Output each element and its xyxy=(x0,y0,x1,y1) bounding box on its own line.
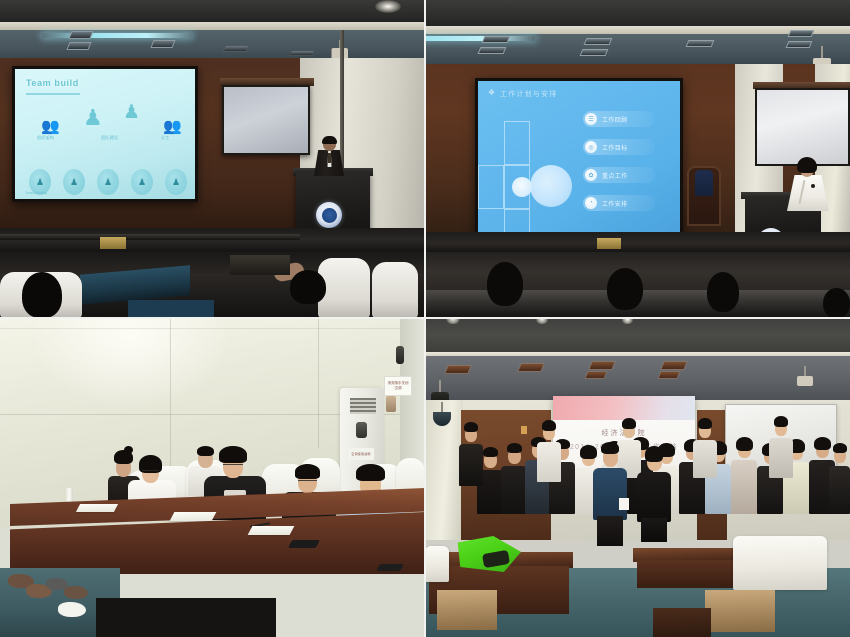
slide-leader-icon-2: ♟ xyxy=(123,101,140,124)
wall-sign: 请务随手关闭空调 xyxy=(384,376,412,396)
slide-bullet-icon: ◎ xyxy=(585,141,597,153)
student-glasses xyxy=(223,464,243,467)
student-glasses xyxy=(142,470,159,473)
slide-grid-cell xyxy=(504,121,530,165)
under-desk-shadow xyxy=(96,598,276,637)
paper-sheet xyxy=(76,504,118,512)
presenter-tie xyxy=(328,153,331,163)
wall-fixture xyxy=(386,396,396,412)
front-table-face xyxy=(637,560,747,588)
ceiling-vent xyxy=(788,30,815,37)
attendee-top xyxy=(693,440,717,478)
slide-decoration-circle-small xyxy=(512,177,532,197)
attendee-top xyxy=(637,472,671,522)
slide-bullet-icon: ◔ xyxy=(585,197,597,209)
wall-panel-seam xyxy=(318,318,319,448)
attendee-hair xyxy=(774,416,788,427)
slide-title: 工作计划与安排 xyxy=(500,89,557,99)
attendee xyxy=(693,418,717,476)
slide-bullet-row: ☰ 工作回顾 xyxy=(583,111,655,127)
ceiling-vent xyxy=(662,362,687,369)
slide-member-node: ♟ xyxy=(131,169,153,195)
slide-member-node: ♟ xyxy=(165,169,187,195)
student-hair xyxy=(295,464,320,479)
paper-sheet xyxy=(170,512,217,521)
secondary-projection-screen xyxy=(755,88,850,166)
attendee xyxy=(769,416,793,476)
covered-chair xyxy=(733,536,827,590)
university-crest-icon xyxy=(316,202,342,228)
collage-divider-horizontal xyxy=(0,317,850,319)
ceiling-vent xyxy=(590,362,615,369)
slide-label-center: 团队建设 xyxy=(101,135,118,141)
slide-bullet-icon: ✿ xyxy=(585,169,597,181)
slide-bullet-row: ✿ 重点工作 xyxy=(583,167,655,183)
attendee-front-center xyxy=(593,442,627,546)
presiding-chair-back xyxy=(695,170,713,196)
name-badge xyxy=(811,184,815,188)
student-hair-bun xyxy=(124,446,133,454)
attendee xyxy=(829,442,850,512)
secondary-projection-screen xyxy=(222,85,310,155)
panel-top-left: Team build ♟ ♟ 👥 👥 组织架构 团队建设 分工 ♟ ♟ ♟ ♟ … xyxy=(0,0,425,318)
stage-platform xyxy=(425,232,850,254)
attendee-top xyxy=(459,444,483,486)
presenter-polo-shirt xyxy=(787,175,829,211)
photo-collage: Team build ♟ ♟ 👥 👥 组织架构 团队建设 分工 ♟ ♟ ♟ ♟ … xyxy=(0,0,850,637)
slide-bullet-row: ◔ 工作安排 xyxy=(583,195,655,211)
attendee-top xyxy=(769,438,793,478)
slide-leader-icon: ♟ xyxy=(83,105,103,131)
slide-header-band xyxy=(553,396,695,420)
attendee-hair xyxy=(601,442,619,454)
wooden-chair xyxy=(653,608,711,637)
main-projection-screen: ❖ 工作计划与安排 ☰ 工作回顾 ◎ 工作目标 ✿ 重点工作 ◔ 工作安排 xyxy=(475,78,683,236)
slide-bullet-row: ◎ 工作目标 xyxy=(583,139,655,155)
audience-head xyxy=(823,288,850,318)
stage-brass-plate xyxy=(597,238,621,249)
slide-footer: Team Building xyxy=(25,191,47,195)
stage-brass-plate xyxy=(100,237,126,249)
stage-platform xyxy=(0,228,425,254)
attendee xyxy=(537,420,561,480)
slide-bullet-label: 工作安排 xyxy=(602,199,628,208)
attendee-hair xyxy=(833,443,847,453)
air-conditioner-label: 空调使用说明 xyxy=(348,448,374,460)
attendee-hair xyxy=(698,418,712,429)
wall-fixture xyxy=(521,426,527,434)
ceiling-vent xyxy=(519,364,544,371)
slide-bullet-label: 重点工作 xyxy=(602,171,628,180)
wall-light-glow xyxy=(30,318,230,408)
slide-group-icon-right: 👥 xyxy=(163,117,182,135)
attendee-front xyxy=(637,446,671,542)
wall-panel-seam xyxy=(0,328,425,329)
slide-title-rule xyxy=(26,93,80,95)
attendee-hair xyxy=(483,447,498,457)
paper-sheet xyxy=(248,526,295,535)
attendee xyxy=(459,422,483,484)
audience-head xyxy=(487,262,523,306)
audience-seat xyxy=(372,262,418,318)
foreground-desk xyxy=(230,255,290,275)
audience-head xyxy=(707,272,739,312)
ceiling-vent xyxy=(786,41,813,48)
strip-light xyxy=(42,33,192,38)
attendee-hair xyxy=(507,443,522,453)
ceiling-downlight xyxy=(375,0,401,13)
attendee-hair xyxy=(645,446,663,462)
student-glasses xyxy=(298,480,317,483)
audience-head xyxy=(22,272,62,318)
collage-divider-vertical xyxy=(424,0,426,637)
ceiling-vent xyxy=(482,36,511,43)
shoe xyxy=(64,586,88,599)
ceiling-vent xyxy=(66,42,91,50)
attendee xyxy=(501,442,527,512)
projector xyxy=(797,376,813,386)
ceiling-vent xyxy=(223,45,250,52)
ceiling-vent xyxy=(584,38,613,45)
student-hair xyxy=(356,464,385,481)
ceiling-vent xyxy=(580,49,609,56)
slide-bullet-label: 工作目标 xyxy=(602,143,628,152)
attendee-skirt xyxy=(641,518,667,542)
ceiling-vent xyxy=(686,40,715,47)
attendee-shirt xyxy=(593,468,627,520)
attendee-hair xyxy=(542,420,556,431)
foreground-desk-edge xyxy=(128,300,214,318)
audience-head xyxy=(607,268,643,310)
slide-decoration-circle xyxy=(530,165,572,207)
slide-bullet-label: 工作回顾 xyxy=(602,115,628,124)
main-projection-screen: Team build ♟ ♟ 👥 👥 组织架构 团队建设 分工 ♟ ♟ ♟ ♟ … xyxy=(12,66,198,202)
ceiling-vent xyxy=(289,50,315,56)
shoe xyxy=(58,602,86,617)
stage-edge-rail xyxy=(0,234,300,240)
attendee-hair xyxy=(736,437,753,451)
strip-light xyxy=(425,36,535,41)
attendee-top xyxy=(537,442,561,482)
presenter-hair xyxy=(322,136,337,144)
slide-label-right: 分工 xyxy=(161,135,170,141)
held-paper xyxy=(619,498,629,510)
ceiling-vent xyxy=(150,40,175,48)
ceiling-vent xyxy=(478,47,507,54)
presenter xyxy=(785,158,831,210)
presenter-hair xyxy=(797,157,817,173)
student-hair xyxy=(219,446,247,463)
ceiling-vent xyxy=(446,366,471,373)
ceiling-vent xyxy=(68,31,93,39)
slide-member-node: ♟ xyxy=(63,169,85,195)
wooden-chair xyxy=(437,590,497,630)
air-conditioner-control-panel[interactable] xyxy=(356,422,367,438)
mobile-phone[interactable] xyxy=(288,540,320,548)
wall-speaker xyxy=(396,346,404,364)
covered-chair xyxy=(425,546,449,582)
panel-top-right: ❖ 工作计划与安排 ☰ 工作回顾 ◎ 工作目标 ✿ 重点工作 ◔ 工作安排 xyxy=(425,0,850,318)
audience-head xyxy=(290,270,326,304)
presenter xyxy=(314,138,344,174)
slide-title: Team build xyxy=(26,78,79,88)
attendee-top xyxy=(501,466,527,514)
ceiling-vent xyxy=(586,372,606,378)
attendee xyxy=(731,436,757,512)
attendee-hair xyxy=(464,422,478,432)
attendee-trousers xyxy=(597,516,623,546)
attendee-top xyxy=(829,466,850,514)
slide-title-icon: ❖ xyxy=(488,88,495,97)
slide-bullet-icon: ☰ xyxy=(585,113,597,125)
wooden-chair xyxy=(705,590,775,632)
attendee-hair xyxy=(622,418,636,429)
ceiling-vent xyxy=(659,372,679,378)
mobile-phone[interactable] xyxy=(376,564,404,571)
panel-bottom-right: 经济法学院 2016-2017 学年度工作总结 xyxy=(425,318,850,637)
attendee-top xyxy=(731,460,757,514)
slide-member-node: ♟ xyxy=(97,169,119,195)
panel-bottom-left: 空调使用说明 请务随手关闭空调 xyxy=(0,318,425,637)
slide-grid-cell xyxy=(478,165,504,209)
air-conditioner-grill xyxy=(350,398,376,414)
slide-label-left: 组织架构 xyxy=(37,135,54,141)
slide-group-icon-left: 👥 xyxy=(41,117,60,135)
